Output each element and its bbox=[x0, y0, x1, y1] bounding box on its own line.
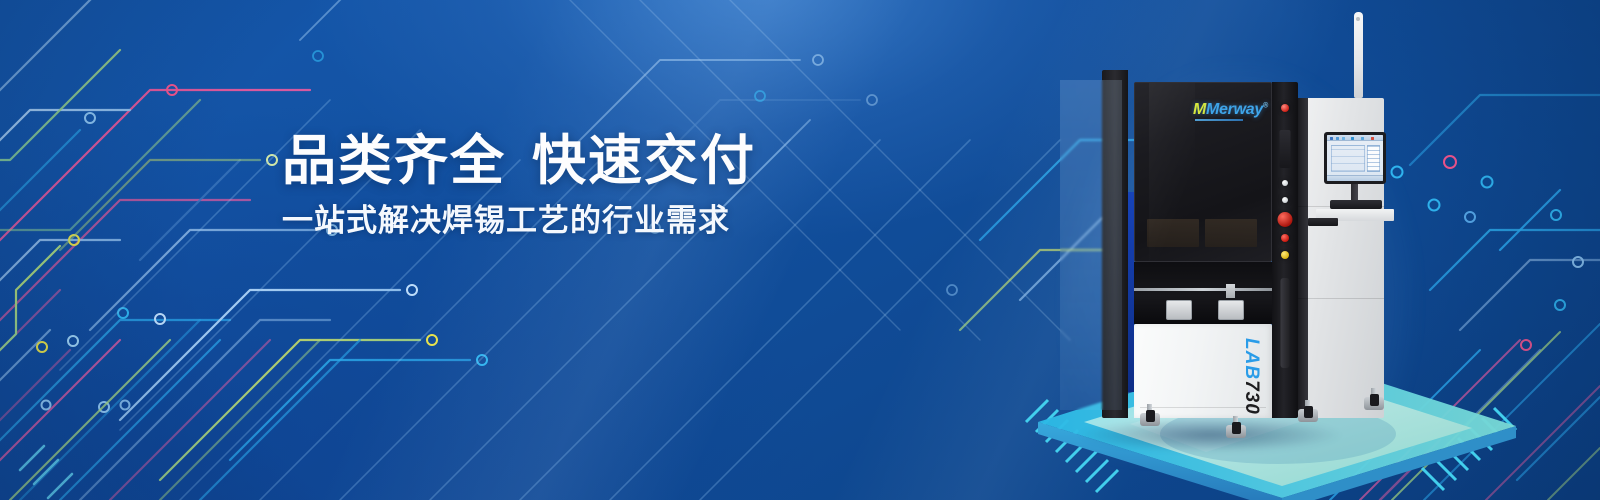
reflection-pane-2 bbox=[1205, 219, 1257, 247]
screen-plot-area bbox=[1331, 145, 1365, 172]
status-red-top-light bbox=[1281, 104, 1289, 112]
castor-tyre bbox=[1304, 406, 1313, 418]
page-subtitle: 一站式解决焊锡工艺的行业需求 bbox=[282, 202, 802, 239]
model-prefix: LAB bbox=[1241, 338, 1262, 380]
indicator-white-2-light bbox=[1282, 197, 1288, 203]
castor-wheel-icon bbox=[1140, 404, 1160, 426]
toolbar-dot-5 bbox=[1361, 137, 1364, 140]
indicator-white-1-light bbox=[1282, 180, 1288, 186]
indicator-red-light bbox=[1281, 234, 1289, 242]
workstation-seam-2 bbox=[1298, 298, 1384, 299]
frosted-glass-overlay bbox=[1060, 80, 1122, 410]
castor-wheel-icon bbox=[1226, 416, 1246, 438]
model-number: 730 bbox=[1241, 380, 1262, 415]
registered-icon: ® bbox=[1263, 103, 1268, 110]
screen-data-table bbox=[1367, 145, 1380, 172]
monitor-screen bbox=[1327, 135, 1383, 181]
emergency-stop-button[interactable] bbox=[1278, 212, 1293, 227]
headline-part-2: 快速交付 bbox=[532, 131, 756, 191]
machine-module-2 bbox=[1218, 300, 1244, 320]
headline-part-1: 品类齐全 bbox=[282, 131, 506, 191]
castor-wheel-icon bbox=[1298, 400, 1318, 422]
shelf-bracket bbox=[1308, 218, 1338, 226]
soldering-machine: MMerway® LAB730 bbox=[1102, 70, 1402, 435]
screen-statusbar bbox=[1327, 175, 1383, 181]
toolbar-dot-3 bbox=[1342, 137, 1345, 140]
model-label: LAB730 bbox=[1240, 338, 1262, 415]
machine-vent-slot bbox=[1280, 130, 1291, 168]
machine-door-handle[interactable] bbox=[1281, 278, 1290, 368]
castor-tyre bbox=[1232, 422, 1241, 434]
monitor-icon bbox=[1324, 132, 1386, 184]
toolbar-dot-6 bbox=[1371, 137, 1374, 140]
machine-rail bbox=[1134, 288, 1272, 291]
machine-module-1 bbox=[1166, 300, 1192, 320]
castor-wheel-icon bbox=[1364, 388, 1384, 410]
brand-logo: MMerway® bbox=[1193, 101, 1268, 119]
castor-tyre bbox=[1146, 410, 1155, 422]
machine-interior-window bbox=[1134, 262, 1272, 324]
castor-tyre bbox=[1370, 394, 1379, 406]
headline-block: 品类齐全快速交付 一站式解决焊锡工艺的行业需求 bbox=[282, 133, 802, 239]
toolbar-dot-2 bbox=[1336, 137, 1339, 140]
tower-beacon-icon bbox=[1354, 12, 1363, 98]
monitor-base bbox=[1330, 200, 1382, 209]
machine-inner-reflection bbox=[1147, 219, 1257, 247]
product-image: MMerway® LAB730 bbox=[1020, 0, 1600, 500]
reflection-pane-1 bbox=[1147, 219, 1199, 247]
brand-logo-text: Merway bbox=[1206, 101, 1263, 118]
brand-logo-mark: M bbox=[1193, 101, 1206, 118]
screen-toolbar bbox=[1327, 135, 1383, 141]
toolbar-dot-4 bbox=[1351, 137, 1354, 140]
page-title: 品类齐全快速交付 bbox=[282, 133, 802, 190]
brand-logo-underline bbox=[1195, 119, 1243, 121]
toolbar-dot-1 bbox=[1330, 137, 1333, 140]
machine-gantry-post bbox=[1226, 284, 1235, 298]
workstation-dark-edge bbox=[1298, 98, 1308, 418]
promo-banner: 品类齐全快速交付 一站式解决焊锡工艺的行业需求 bbox=[0, 0, 1600, 500]
machine-glass-door: MMerway® bbox=[1134, 82, 1272, 262]
machine-control-column bbox=[1272, 82, 1298, 418]
indicator-yellow-light bbox=[1281, 251, 1289, 259]
